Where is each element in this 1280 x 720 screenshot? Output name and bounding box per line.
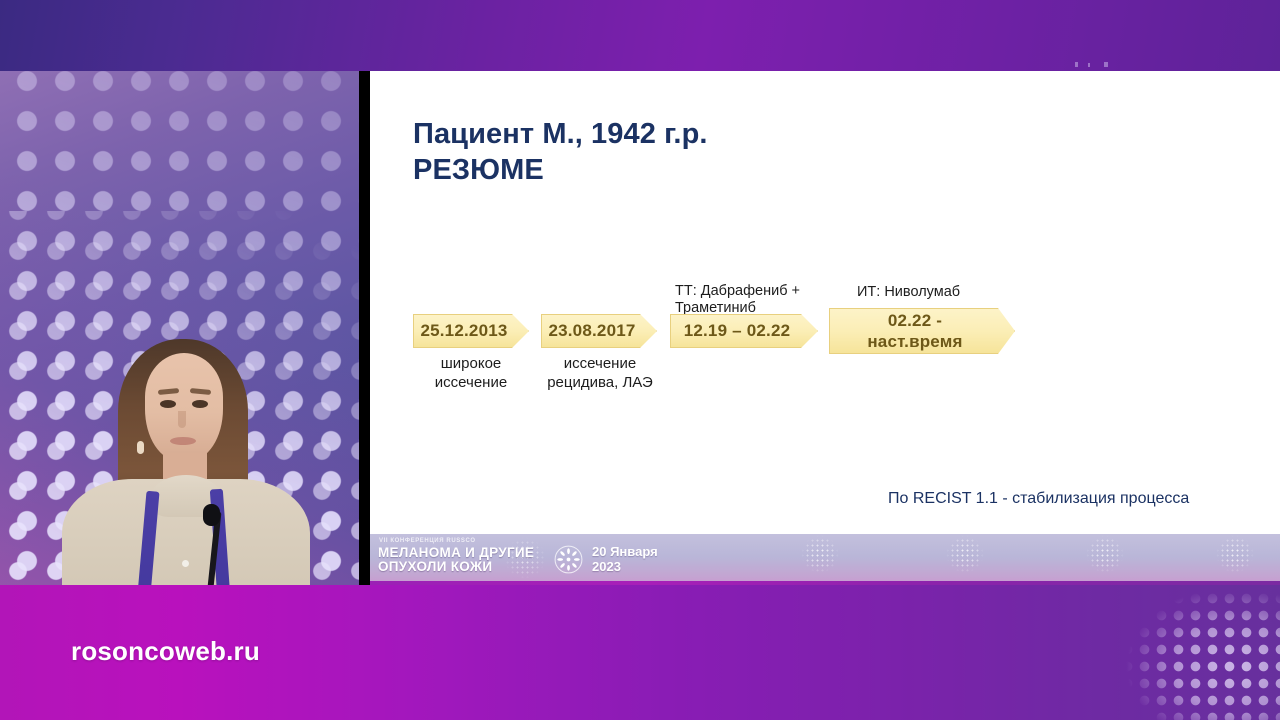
timeline-caption-excision-2013: широкоеиссечение <box>406 354 536 392</box>
timeline-step-value: 12.19 – 02.22 <box>684 321 791 341</box>
timeline-caption-recurrence-2017: иссечениерецидива, ЛАЭ <box>530 354 670 392</box>
timeline-label-targeted-therapy: ТТ: Дабрафениб +Траметиниб <box>675 283 835 317</box>
speaker-earring <box>137 441 144 454</box>
speaker-video-panel[interactable] <box>0 71 359 585</box>
banner-rosette-pattern <box>700 534 1280 585</box>
timeline-step-value: 02.22 - <box>888 310 942 331</box>
banner-date-line2: 2023 <box>592 559 658 574</box>
timeline-step-immunotherapy: 02.22 - наст.время <box>829 308 1015 354</box>
speaker-eye-right <box>192 400 208 408</box>
conference-sunburst-logo <box>554 545 583 574</box>
band-speck <box>1088 63 1090 67</box>
banner-title-line2: ОПУХОЛИ КОЖИ <box>378 560 534 574</box>
presentation-slide[interactable]: Пациент М., 1942 г.р. РЕЗЮМЕ 25.12.2013 … <box>370 71 1280 534</box>
conference-banner: VII КОНФЕРЕНЦИЯ RUSSCO МЕЛАНОМА И ДРУГИЕ… <box>370 534 1280 585</box>
banner-date: 20 Января 2023 <box>592 544 658 574</box>
recist-assessment-note: По RECIST 1.1 - стабилизация процесса <box>888 490 1189 508</box>
timeline-step-value-line2: наст.время <box>867 331 962 352</box>
timeline-step-excision-2013: 25.12.2013 <box>413 314 529 348</box>
banner-title-line1: МЕЛАНОМА И ДРУГИЕ <box>378 546 534 560</box>
speaker-nose <box>178 411 186 428</box>
speaker-pendant <box>182 560 189 567</box>
banner-date-line1: 20 Января <box>592 544 658 559</box>
banner-eyebrow: VII КОНФЕРЕНЦИЯ RUSSCO <box>379 538 476 544</box>
site-url-label: rosoncoweb.ru <box>71 636 260 667</box>
screen: Пациент М., 1942 г.р. РЕЗЮМЕ 25.12.2013 … <box>0 0 1280 720</box>
speaker-eye-left <box>160 400 176 408</box>
footer-halftone-dots <box>1000 585 1280 720</box>
treatment-timeline: 25.12.2013 широкоеиссечение 23.08.2017 и… <box>370 71 1280 534</box>
band-speck <box>1104 62 1108 67</box>
timeline-step-value: 25.12.2013 <box>420 321 507 341</box>
timeline-step-targeted-therapy: 12.19 – 02.22 <box>670 314 818 348</box>
timeline-step-value: 23.08.2017 <box>548 321 635 341</box>
banner-title: МЕЛАНОМА И ДРУГИЕ ОПУХОЛИ КОЖИ <box>378 546 534 574</box>
microphone-head <box>203 504 220 526</box>
top-purple-band <box>0 0 1280 71</box>
band-speck <box>1075 62 1078 67</box>
timeline-label-immunotherapy: ИТ: Ниволумаб <box>857 284 1057 301</box>
timeline-step-recurrence-2017: 23.08.2017 <box>541 314 657 348</box>
speaker-mouth <box>170 437 196 445</box>
